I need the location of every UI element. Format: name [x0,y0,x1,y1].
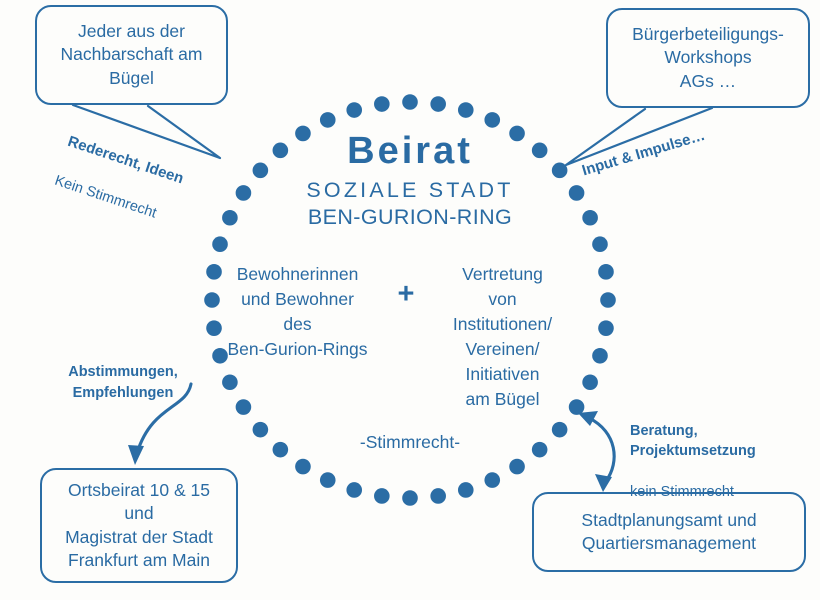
ring-dot [484,112,500,128]
ring-dot [374,488,390,504]
ring-dot [212,236,228,252]
ring-dot [509,459,525,475]
diagram-canvas: Jeder aus der Nachbarschaft am Bügel Bür… [0,0,820,600]
ring-dot [600,292,616,308]
ring-dot [320,112,336,128]
ring-dot [222,374,238,390]
caption-beratung: Beratung, Projektumsetzung kein Stimmrec… [630,400,820,523]
ring-dot [320,472,336,488]
box-ortsbeirat[interactable]: Ortsbeirat 10 & 15 und Magistrat der Sta… [40,468,238,583]
caption-beratung-bold: Beratung, Projektumsetzung [630,421,820,462]
bubble-neighbourhood[interactable]: Jeder aus der Nachbarschaft am Bügel [35,5,228,105]
ring-dot [458,482,474,498]
bubble-participation[interactable]: Bürgerbeteiligungs- Workshops AGs … [606,8,810,108]
ring-dot [484,472,500,488]
arrowhead-beratung-up [578,411,598,426]
ring-dot [295,459,311,475]
ring-dot [598,320,614,336]
ring-dot [592,348,608,364]
ring-dot [402,94,418,110]
ring-dot [582,374,598,390]
plus-icon: + [386,278,426,311]
center-voting-note: -Stimmrecht- [265,432,555,453]
ring-dot [236,399,252,415]
arrowhead-abstimmungen [128,445,144,465]
ring-dot [458,102,474,118]
ring-dot [430,488,446,504]
ring-dot [374,96,390,112]
ring-dot [402,490,418,506]
ring-dot [592,236,608,252]
arrowhead-beratung-down [595,474,612,492]
ring-dot [346,102,362,118]
center-left-column: Bewohnerinnen und Bewohner des Ben-Gurio… [205,262,390,362]
center-right-column: Vertretung von Institutionen/ Vereinen/ … [425,262,580,412]
ring-dot [346,482,362,498]
ring-dot [598,264,614,280]
ring-dot [430,96,446,112]
caption-abstimmungen: Abstimmungen, Empfehlungen [48,362,198,403]
caption-beratung-sub: kein Stimmrecht [630,482,820,503]
arrow-beratung [589,418,614,481]
